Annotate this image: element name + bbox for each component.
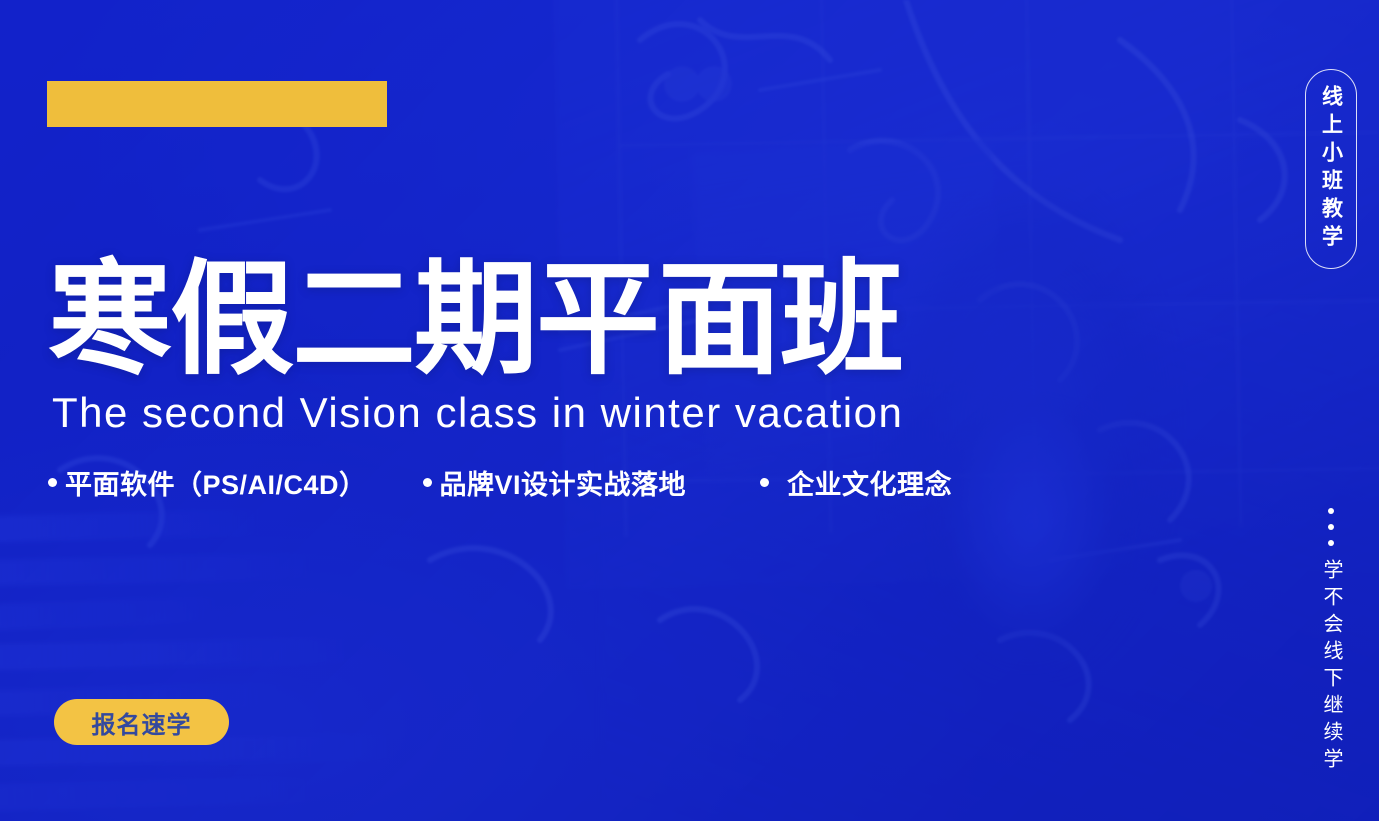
- page-subtitle: The second Vision class in winter vacati…: [52, 392, 903, 434]
- accent-bar: [47, 81, 387, 127]
- dot-icon: [1328, 524, 1334, 530]
- guarantee-label: 学不会线下继续学: [1321, 559, 1341, 775]
- feature-list: 平面软件（PS/AI/C4D） 品牌VI设计实战落地 企业文化理念: [48, 463, 952, 502]
- online-small-class-badge: 线上小班教学: [1305, 69, 1357, 269]
- poster-content: 寒假二期平面班 The second Vision class in winte…: [0, 0, 1379, 821]
- bullet-dot-icon: [423, 478, 432, 487]
- dot-icon: [1328, 508, 1334, 514]
- badge-label: 线上小班教学: [1321, 85, 1342, 253]
- bullet-dot-icon: [48, 478, 57, 487]
- bullet-dot-icon: [760, 478, 769, 487]
- page-title: 寒假二期平面班: [48, 258, 902, 382]
- dot-icon: [1328, 540, 1334, 546]
- enroll-button[interactable]: 报名速学: [54, 699, 229, 745]
- feature-item-brand-vi: 品牌VI设计实战落地: [423, 463, 687, 502]
- feature-label: 企业文化理念: [787, 463, 952, 502]
- guarantee-note: 学不会线下继续学: [1305, 508, 1357, 775]
- promo-poster: 寒假二期平面班 The second Vision class in winte…: [0, 0, 1379, 821]
- feature-label: 平面软件（PS/AI/C4D）: [65, 463, 367, 502]
- feature-label: 品牌VI设计实战落地: [440, 463, 687, 502]
- feature-item-software: 平面软件（PS/AI/C4D）: [48, 463, 367, 502]
- feature-item-corporate-culture: 企业文化理念: [760, 463, 952, 502]
- three-dots-icon: [1328, 508, 1334, 546]
